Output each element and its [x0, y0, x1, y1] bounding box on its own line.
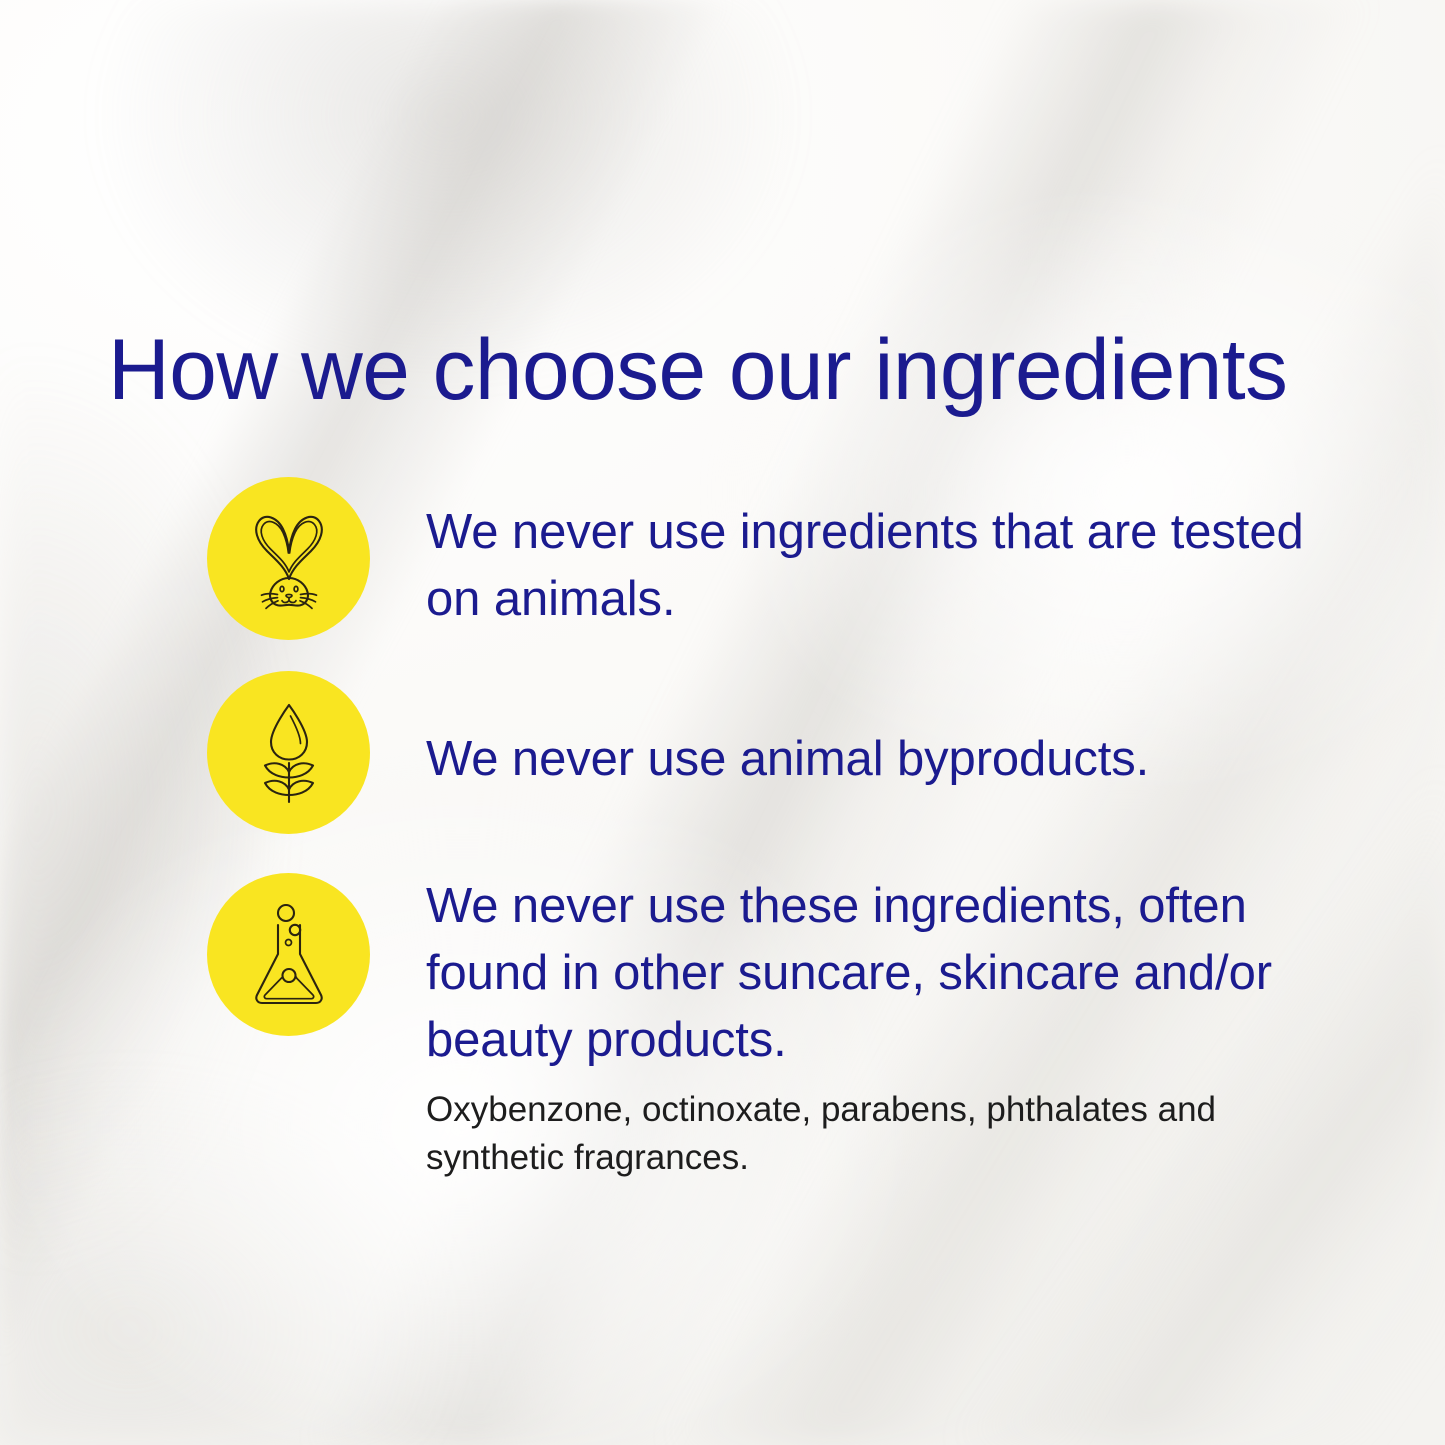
claim-badge	[207, 671, 370, 834]
droplet-plant-icon	[233, 697, 345, 809]
marketing-card: How we choose our ingredients	[0, 0, 1445, 1445]
claim-badge	[207, 477, 370, 640]
claim-text: We never use animal byproducts.	[426, 726, 1326, 793]
claim-text: We never use these ingredients, often fo…	[426, 873, 1326, 1074]
flask-bubbles-icon	[233, 899, 345, 1011]
page-title: How we choose our ingredients	[108, 327, 1362, 413]
bunny-heart-ears-icon	[233, 503, 345, 615]
claim-body: We never use animal byproducts.	[426, 726, 1326, 793]
content-area: How we choose our ingredients	[0, 0, 1445, 1445]
claim-body: We never use ingredients that are tested…	[426, 499, 1326, 633]
claim-body: We never use these ingredients, often fo…	[426, 873, 1326, 1182]
claim-badge	[207, 873, 370, 1036]
claim-note: Oxybenzone, octinoxate, parabens, phthal…	[426, 1086, 1326, 1182]
claim-text: We never use ingredients that are tested…	[426, 499, 1326, 633]
